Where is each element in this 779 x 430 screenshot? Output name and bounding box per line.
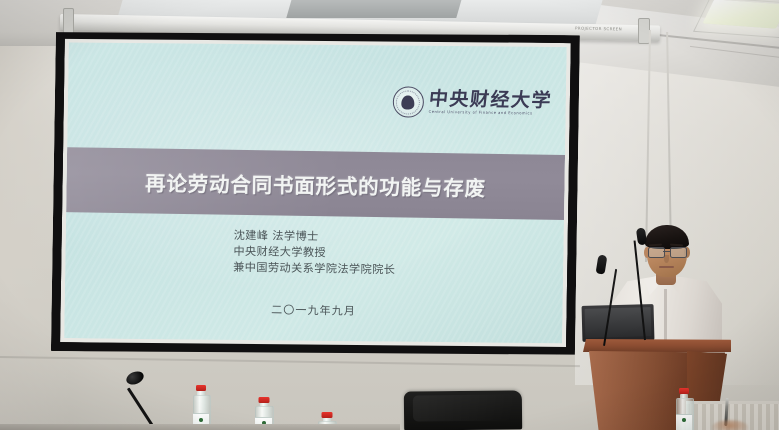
eyeglass-lens-right [670, 247, 687, 258]
logo-name-en: Central University of Finance and Econom… [429, 111, 552, 117]
roller-label: PROJECTOR SCREEN [575, 26, 622, 32]
university-logo: 中央财经大学 Central University of Finance and… [393, 86, 552, 119]
logo-name-cn: 中央财经大学 [428, 90, 553, 111]
eyeglasses-icon [647, 247, 687, 256]
eyeglass-bridge [663, 251, 670, 252]
lecture-hall-photo: PROJECTOR SCREEN 中央财经大学 Central Universi… [0, 0, 779, 430]
hand [712, 420, 748, 430]
presentation-slide: 中央财经大学 Central University of Finance and… [64, 39, 567, 346]
ceiling-panel-dark [286, 0, 463, 18]
byline-line-3: 兼中国劳动关系学院法学院院长 [233, 260, 395, 279]
slide-body: 沈建峰 法学博士 中央财经大学教授 兼中国劳动关系学院法学院院长 二〇一九年九月 [64, 225, 563, 322]
slide-title-band: 再论劳动合同书面形式的功能与存废 [66, 147, 565, 220]
eyeglass-lens-left [648, 247, 665, 258]
presenter-mouth [659, 266, 674, 268]
logo-text: 中央财经大学 Central University of Finance and… [429, 90, 552, 117]
slide-title: 再论劳动合同书面形式的功能与存废 [145, 166, 486, 201]
bottle-label [676, 414, 692, 430]
slide-byline: 沈建峰 法学博士 中央财经大学教授 兼中国劳动关系学院法学院院长 [233, 228, 396, 279]
university-seal-icon [393, 86, 424, 117]
conference-chair [404, 390, 522, 430]
front-table-edge [0, 424, 400, 430]
projection-screen: 中央财经大学 Central University of Finance and… [51, 27, 580, 359]
slide-date: 二〇一九年九月 [271, 301, 356, 318]
shirt-placket [664, 289, 667, 341]
water-bottle [676, 388, 692, 430]
